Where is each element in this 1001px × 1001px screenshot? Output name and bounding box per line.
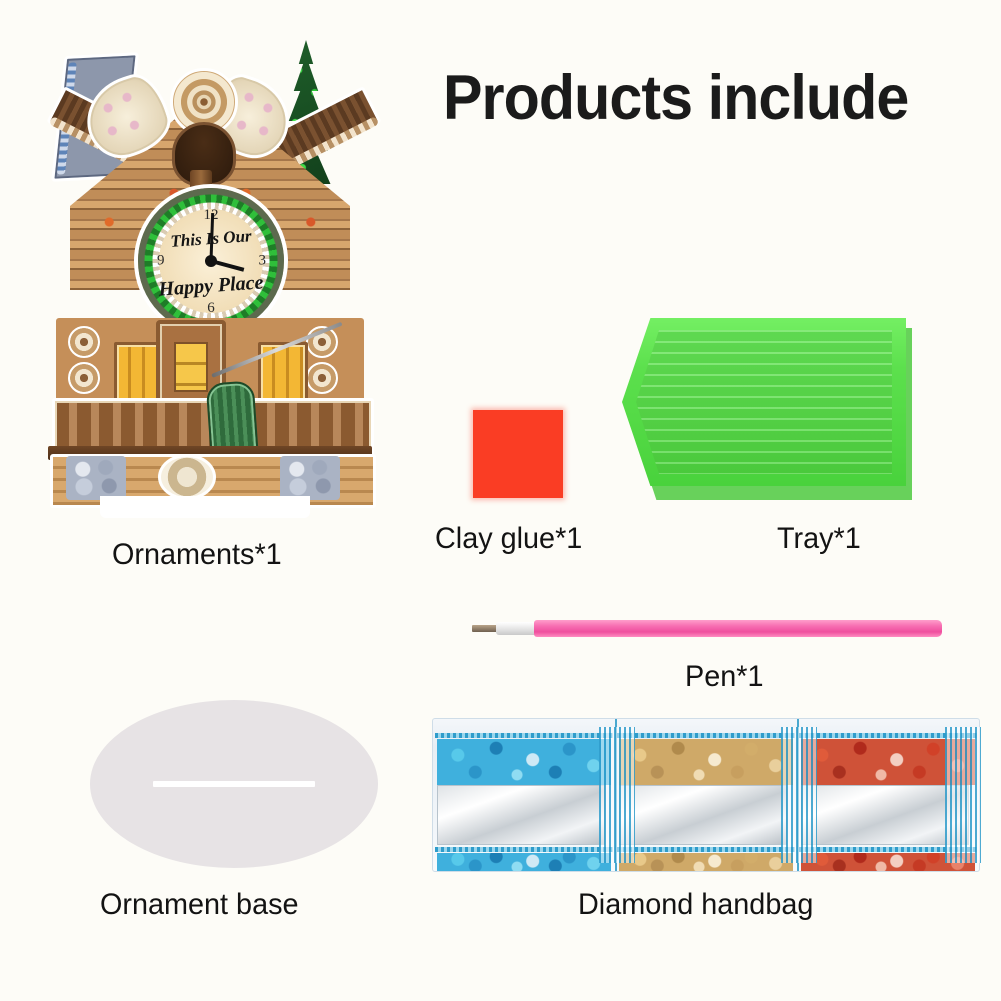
zip-seal-top — [617, 733, 795, 738]
zip-column-right — [781, 727, 817, 863]
ornaments-label: Ornaments*1 — [112, 538, 282, 572]
blue-diamond-fill-lower — [437, 853, 611, 871]
clock-face: 12 3 6 9 This Is Our Happy Place — [138, 188, 284, 334]
gold-diamond-fill-lower — [619, 853, 793, 871]
log-end-icon — [68, 362, 100, 394]
foundation-wreath-icon — [158, 454, 216, 500]
page-title: Products include — [443, 62, 908, 134]
log-end-icon — [68, 326, 100, 358]
zip-column-end — [945, 727, 981, 863]
gold-diamond-fill — [619, 739, 793, 785]
pen-label: Pen*1 — [685, 660, 763, 694]
pen-barrel — [534, 620, 942, 637]
clay-glue-icon — [473, 410, 563, 498]
clock-center-cap — [205, 255, 217, 267]
tray-inner-grooves — [636, 330, 892, 474]
clock-numeral-6: 6 — [207, 300, 215, 317]
door-glass-panel — [174, 342, 208, 392]
pen-icon — [472, 620, 942, 638]
ornament-illustration: 12 3 6 9 This Is Our Happy Place — [30, 30, 390, 510]
foil-strip — [619, 785, 787, 845]
diamond-handbag-icon — [432, 718, 980, 872]
pen-ferrule — [496, 622, 538, 635]
foil-strip — [801, 785, 969, 845]
diamond-handbag-label: Diamond handbag — [578, 888, 813, 922]
zip-seal-bottom — [435, 847, 613, 852]
tray-icon — [622, 318, 912, 494]
ornament-base-label: Ornament base — [100, 888, 299, 922]
foundation-stone-right — [280, 456, 340, 500]
ornament-base-icon — [90, 700, 378, 868]
clock-numeral-9: 9 — [157, 253, 165, 270]
clay-glue-label: Clay glue*1 — [435, 522, 582, 556]
ornament-base-slot — [153, 781, 315, 787]
zip-seal-top — [435, 733, 613, 738]
blue-diamond-fill — [437, 739, 611, 785]
adirondack-chair-icon — [206, 380, 259, 453]
handbag-compartment-gold — [615, 719, 799, 871]
zip-seal-bottom — [617, 847, 795, 852]
foundation-stone-left — [66, 456, 126, 500]
zip-column-left — [599, 727, 635, 863]
log-end-icon — [306, 362, 338, 394]
handbag-compartment-blue — [433, 719, 617, 871]
clock-numeral-3: 3 — [259, 253, 267, 270]
tray-label: Tray*1 — [777, 522, 861, 556]
pen-tip — [472, 625, 498, 632]
ornament-tab — [100, 496, 310, 518]
product-contents-page: Products include 12 3 — [0, 0, 1001, 1001]
foil-strip — [437, 785, 605, 845]
